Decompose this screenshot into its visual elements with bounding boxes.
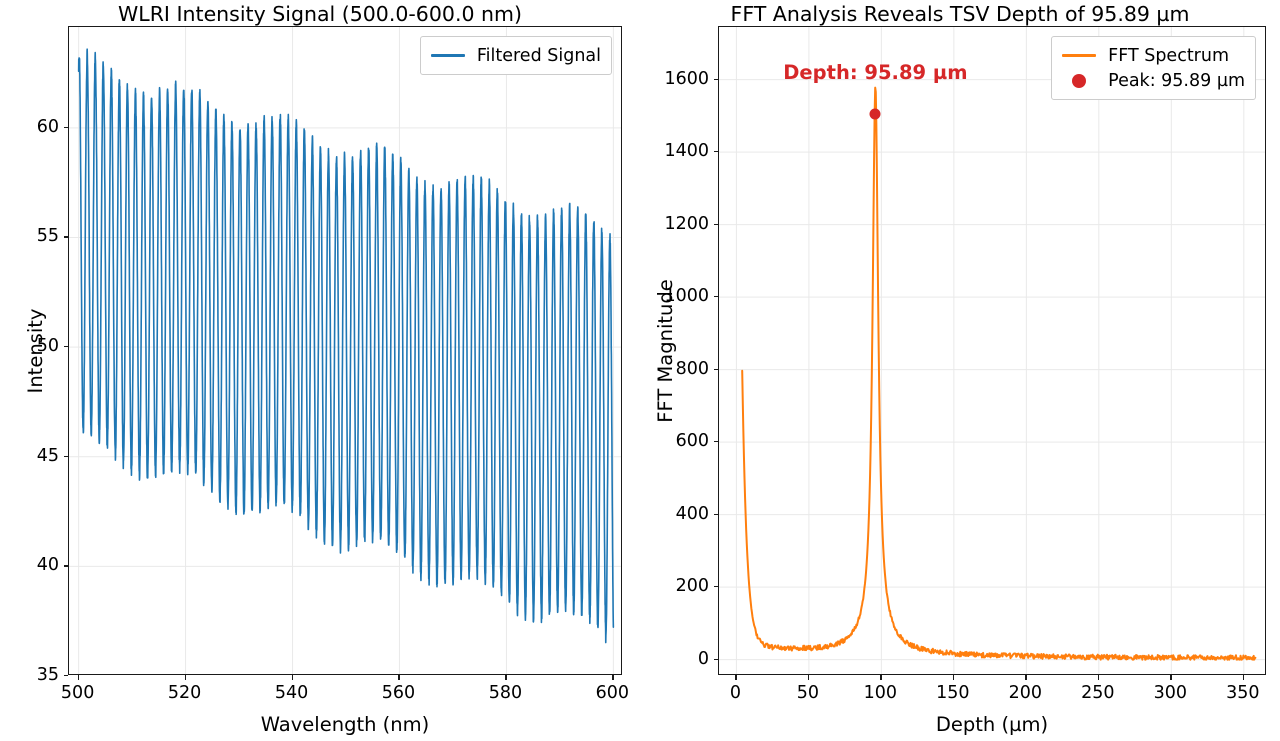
x-tick-label: 600	[596, 683, 629, 703]
y-tick-mark	[714, 79, 719, 80]
y-tick-mark	[714, 369, 719, 370]
legend-swatch-shape	[1072, 74, 1086, 88]
x-tick-label: 300	[1154, 683, 1187, 703]
depth-annotation: Depth: 95.89 µm	[783, 61, 967, 84]
plot-canvas	[69, 27, 622, 675]
x-tick-mark	[78, 675, 79, 680]
y-tick-mark	[64, 456, 69, 457]
legend-line-icon	[1061, 54, 1097, 57]
legend-swatch-shape	[431, 54, 465, 57]
y-tick-mark	[64, 236, 69, 237]
y-tick-mark	[64, 127, 69, 128]
x-tick-label: 560	[382, 683, 415, 703]
y-axis-label: Intensity	[24, 308, 47, 393]
x-tick-mark	[612, 675, 613, 680]
x-tick-label: 250	[1081, 683, 1114, 703]
x-tick-label: 500	[61, 683, 94, 703]
legend-label: Filtered Signal	[477, 46, 601, 66]
chart-panel-fft-analysis: FFT Analysis Reveals TSV Depth of 95.89 …	[640, 0, 1280, 741]
y-tick-label: 600	[676, 431, 709, 451]
x-tick-mark	[1170, 675, 1171, 680]
x-tick-mark	[880, 675, 881, 680]
x-tick-mark	[292, 675, 293, 680]
chart-panel-wlri-intensity: WLRI Intensity Signal (500.0-600.0 nm) F…	[0, 0, 640, 741]
figure-canvas: WLRI Intensity Signal (500.0-600.0 nm) F…	[0, 0, 1280, 741]
y-tick-mark	[714, 441, 719, 442]
plot-canvas	[719, 27, 1266, 675]
chart-legend[interactable]: FFT SpectrumPeak: 95.89 µm	[1051, 36, 1256, 100]
legend-item[interactable]: FFT Spectrum	[1061, 43, 1245, 68]
x-axis-label: Wavelength (nm)	[261, 713, 429, 736]
x-tick-mark	[1098, 675, 1099, 680]
y-tick-mark	[714, 514, 719, 515]
x-tick-mark	[808, 675, 809, 680]
legend-label: Peak: 95.89 µm	[1108, 71, 1245, 91]
x-tick-mark	[505, 675, 506, 680]
y-axis-label: FFT Magnitude	[654, 279, 677, 423]
x-tick-label: 520	[168, 683, 201, 703]
y-tick-label: 45	[37, 446, 59, 466]
y-tick-mark	[714, 659, 719, 660]
y-tick-mark	[64, 346, 69, 347]
legend-item[interactable]: Filtered Signal	[430, 43, 601, 68]
x-tick-mark	[1025, 675, 1026, 680]
plot-area-wlri[interactable]: Filtered Signal	[68, 26, 622, 675]
x-tick-label: 580	[489, 683, 522, 703]
chart-legend[interactable]: Filtered Signal	[420, 36, 612, 75]
y-tick-label: 40	[37, 555, 59, 575]
y-tick-label: 400	[676, 504, 709, 524]
legend-dot-icon	[1061, 74, 1097, 88]
x-tick-mark	[735, 675, 736, 680]
y-tick-mark	[714, 151, 719, 152]
y-tick-label: 1600	[664, 69, 709, 89]
x-tick-label: 50	[797, 683, 819, 703]
plot-area-fft[interactable]: Depth: 95.89 µmFFT SpectrumPeak: 95.89 µ…	[718, 26, 1266, 675]
x-axis-label: Depth (µm)	[936, 713, 1048, 736]
data-series-line	[79, 49, 614, 642]
y-tick-mark	[714, 296, 719, 297]
y-tick-mark	[714, 586, 719, 587]
legend-swatch-shape	[1062, 54, 1096, 57]
y-tick-label: 60	[37, 117, 59, 137]
x-tick-label: 100	[864, 683, 897, 703]
page-title: WLRI Intensity Signal (500.0-600.0 nm)	[0, 2, 640, 26]
y-tick-mark	[64, 675, 69, 676]
x-tick-label: 200	[1009, 683, 1042, 703]
y-tick-label: 1200	[664, 214, 709, 234]
x-tick-mark	[398, 675, 399, 680]
x-tick-mark	[953, 675, 954, 680]
y-tick-label: 800	[676, 359, 709, 379]
y-tick-mark	[64, 565, 69, 566]
y-tick-label: 1400	[664, 141, 709, 161]
legend-label: FFT Spectrum	[1108, 46, 1229, 66]
x-tick-label: 540	[275, 683, 308, 703]
x-tick-label: 350	[1226, 683, 1259, 703]
y-tick-label: 35	[37, 665, 59, 685]
y-tick-label: 200	[676, 576, 709, 596]
x-tick-label: 0	[730, 683, 741, 703]
peak-marker-dot[interactable]	[870, 109, 881, 120]
y-tick-label: 0	[698, 649, 709, 669]
y-tick-label: 55	[37, 226, 59, 246]
x-tick-mark	[185, 675, 186, 680]
y-tick-mark	[714, 224, 719, 225]
legend-line-icon	[430, 54, 466, 57]
x-tick-mark	[1243, 675, 1244, 680]
data-series-line	[742, 88, 1255, 660]
gridlines	[719, 27, 1266, 675]
legend-item[interactable]: Peak: 95.89 µm	[1061, 68, 1245, 93]
x-tick-label: 150	[936, 683, 969, 703]
page-title-fft: FFT Analysis Reveals TSV Depth of 95.89 …	[640, 2, 1280, 26]
